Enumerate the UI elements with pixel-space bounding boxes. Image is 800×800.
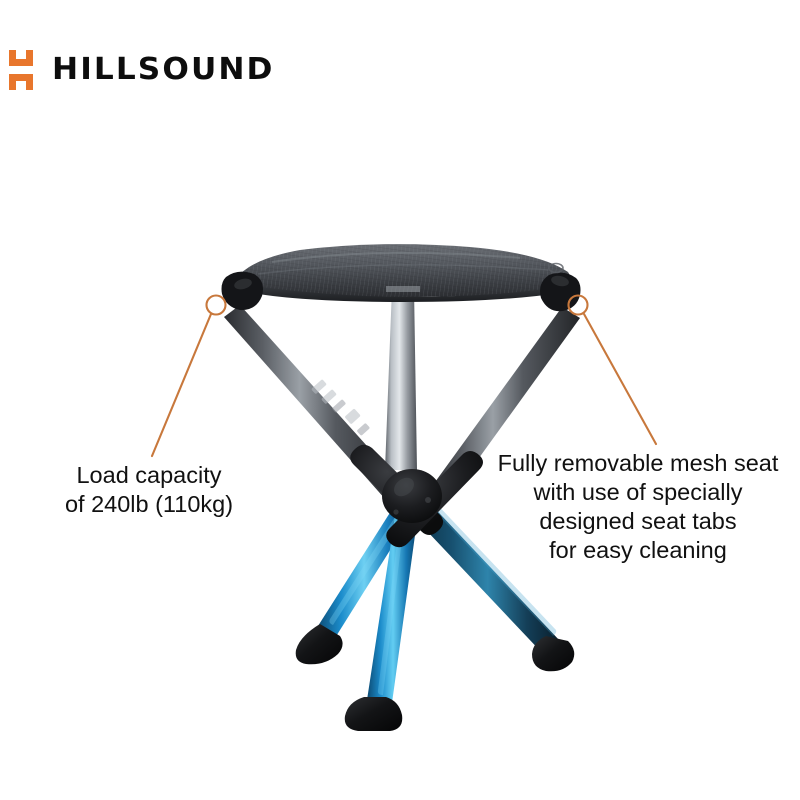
leg-upper-center: [385, 288, 417, 470]
callout-label-load-capacity: Load capacity of 240lb (110kg): [18, 461, 280, 519]
callout-label-removable-seat: Fully removable mesh seat with use of sp…: [476, 449, 800, 565]
mesh-seat: [222, 244, 581, 311]
foot-right: [532, 636, 574, 671]
infographic-page: HILLSOUND: [0, 0, 800, 800]
seat-tab-left: [222, 272, 264, 310]
foot-center: [345, 697, 402, 731]
product-illustration: [0, 0, 800, 800]
